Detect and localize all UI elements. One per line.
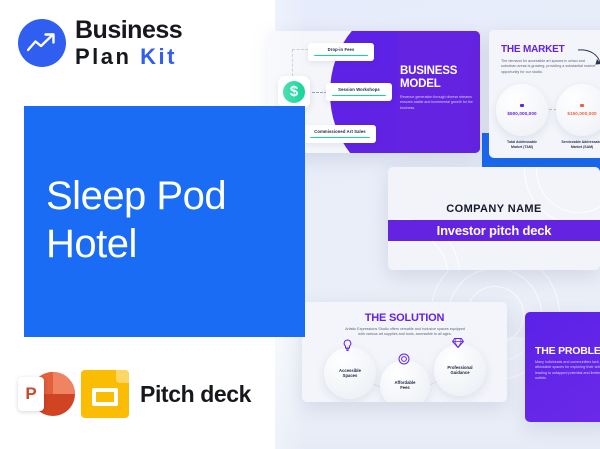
stat-dot — [580, 104, 583, 107]
business-model-item: Drop-in Fees — [308, 43, 374, 61]
lightbulb-icon — [342, 339, 353, 357]
slide-company-name[interactable]: COMPANY NAME Investor pitch deck — [388, 167, 600, 270]
business-model-item: Commissioned Art Sales — [304, 125, 376, 143]
connector-line — [312, 92, 327, 93]
investor-band-text: Investor pitch deck — [388, 220, 600, 241]
market-stat-disc: $500,000,000 — [496, 84, 548, 136]
market-stat-caption: Serviceable Addressable Market (SAM) — [552, 140, 600, 149]
dollar-circle-icon: $ — [278, 76, 310, 108]
circle-target-icon — [398, 352, 410, 370]
item-underline — [314, 55, 368, 56]
market-stat-caption: Total Addressable Market (TAM) — [492, 140, 552, 149]
stat-dot — [520, 104, 523, 107]
stat-value: $150,000,000 — [567, 111, 596, 116]
brand-line1: Business — [75, 18, 182, 43]
company-name-heading: COMPANY NAME — [388, 203, 600, 215]
preview-canvas: $ Drop-in Fees Session Workshops Commiss… — [0, 0, 600, 449]
powerpoint-icon[interactable]: P — [18, 368, 70, 420]
hero-title-line1: Sleep Pod — [46, 172, 226, 220]
brand-line2: Plan Kit — [75, 46, 182, 68]
solution-heading: THE SOLUTION — [302, 312, 507, 324]
brand-plan: Plan — [75, 44, 131, 69]
slides-screen — [92, 388, 118, 406]
powerpoint-letter: P — [18, 377, 44, 411]
decorative-ring — [524, 167, 600, 225]
item-label-line2: Spaces — [339, 373, 361, 378]
slide-problem[interactable]: THE PROBLEM Many individuals and communi… — [525, 312, 600, 422]
brand-wordmark: Business Plan Kit — [75, 18, 182, 68]
powerpoint-wedge — [53, 372, 75, 394]
brand-logo[interactable]: Business Plan Kit — [18, 18, 182, 68]
caption-line2: Market (SAM) — [552, 145, 600, 150]
item-label-line2: Fees — [395, 385, 416, 390]
body-text: Revenue generation through diverse strea… — [400, 95, 474, 111]
item-label: Session Workshops — [332, 87, 386, 92]
brand-kit: Kit — [140, 44, 177, 69]
investor-band: Investor pitch deck — [388, 220, 600, 241]
caption-line2: Market (TAM) — [492, 145, 552, 150]
diamond-icon — [452, 336, 464, 354]
problem-heading: THE PROBLEM — [535, 345, 600, 357]
format-row: P Pitch deck — [18, 368, 251, 420]
market-body: The demand for accessible art spaces in … — [501, 59, 599, 75]
slide-solution[interactable]: THE SOLUTION Artistic Expressions Studio… — [302, 302, 507, 402]
problem-body: Many individuals and communities lack ac… — [535, 360, 600, 382]
solution-body: Artistic Expressions Studio offers versa… — [344, 327, 466, 338]
slides-fold — [116, 370, 129, 383]
pitch-deck-label: Pitch deck — [140, 381, 251, 408]
page-title: Sleep Pod Hotel — [46, 172, 226, 268]
slide-market[interactable]: THE MARKET The demand for accessible art… — [489, 30, 600, 158]
item-underline — [310, 137, 370, 138]
market-heading: THE MARKET — [501, 44, 565, 55]
heading-line2: MODEL — [400, 78, 474, 91]
business-model-text: BUSINESS MODEL Revenue generation throug… — [400, 65, 474, 111]
business-model-item: Session Workshops — [326, 83, 392, 101]
connector-line — [292, 49, 309, 50]
stat-value: $500,000,000 — [507, 111, 536, 116]
item-underline — [332, 95, 386, 96]
market-stat-disc: $150,000,000 — [556, 84, 600, 136]
hero-title-line2: Hotel — [46, 220, 226, 268]
item-label-line2: Guidance — [447, 370, 472, 375]
google-slides-icon[interactable] — [81, 368, 129, 420]
item-label: Commissioned Art Sales — [310, 129, 370, 134]
item-label: Drop-in Fees — [314, 47, 368, 52]
heading-line1: BUSINESS — [400, 65, 474, 78]
trending-up-circle-icon — [18, 19, 66, 67]
